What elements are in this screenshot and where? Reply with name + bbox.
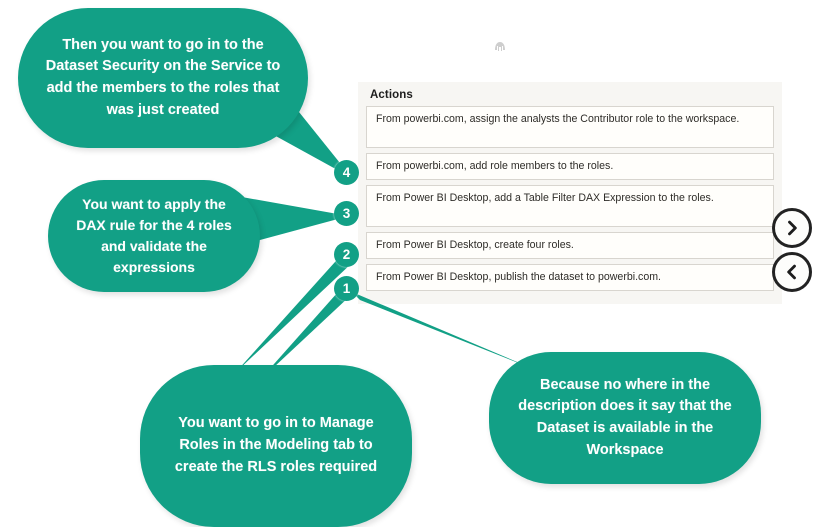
action-card[interactable]: From Power BI Desktop, add a Table Filte… (366, 185, 774, 227)
step-badge-1-label: 1 (343, 281, 351, 296)
callout-dataset-security-text: Then you want to go in to the Dataset Se… (44, 35, 282, 122)
screenshot-root: Then you want to go in to the Dataset Se… (0, 0, 824, 527)
action-card-text: From Power BI Desktop, add a Table Filte… (376, 192, 714, 204)
action-card-text: From powerbi.com, assign the analysts th… (376, 113, 739, 125)
next-button[interactable] (772, 208, 812, 248)
prev-button[interactable] (772, 252, 812, 292)
step-badge-4[interactable]: 4 (334, 160, 359, 185)
callout-dataset-security: Then you want to go in to the Dataset Se… (18, 8, 308, 148)
action-card[interactable]: From Power BI Desktop, publish the datas… (366, 264, 774, 291)
step-badge-3[interactable]: 3 (334, 201, 359, 226)
callout-dataset-workspace-text: Because no where in the description does… (511, 375, 739, 462)
callout-manage-roles-text: You want to go in to Manage Roles in the… (162, 413, 390, 478)
step-badge-3-label: 3 (343, 206, 351, 221)
action-card-text: From powerbi.com, add role members to th… (376, 160, 613, 172)
cursor-ghost-icon (489, 36, 511, 58)
actions-panel: Actions From powerbi.com, assign the ana… (358, 82, 782, 304)
action-card-text: From Power BI Desktop, create four roles… (376, 239, 574, 251)
action-card[interactable]: From powerbi.com, add role members to th… (366, 153, 774, 180)
chevron-right-icon (782, 218, 802, 238)
step-badge-1[interactable]: 1 (334, 276, 359, 301)
chevron-left-icon (782, 262, 802, 282)
step-badge-2-label: 2 (343, 247, 351, 262)
actions-panel-title: Actions (370, 89, 774, 101)
step-badge-2[interactable]: 2 (334, 242, 359, 267)
action-card[interactable]: From Power BI Desktop, create four roles… (366, 232, 774, 259)
action-card[interactable]: From powerbi.com, assign the analysts th… (366, 106, 774, 148)
callout-dataset-workspace: Because no where in the description does… (489, 352, 761, 484)
callout-manage-roles: You want to go in to Manage Roles in the… (140, 365, 412, 527)
callout-dax-rule: You want to apply the DAX rule for the 4… (48, 180, 260, 292)
step-badge-4-label: 4 (343, 165, 351, 180)
action-card-text: From Power BI Desktop, publish the datas… (376, 271, 661, 283)
callout-dax-rule-text: You want to apply the DAX rule for the 4… (68, 194, 240, 278)
